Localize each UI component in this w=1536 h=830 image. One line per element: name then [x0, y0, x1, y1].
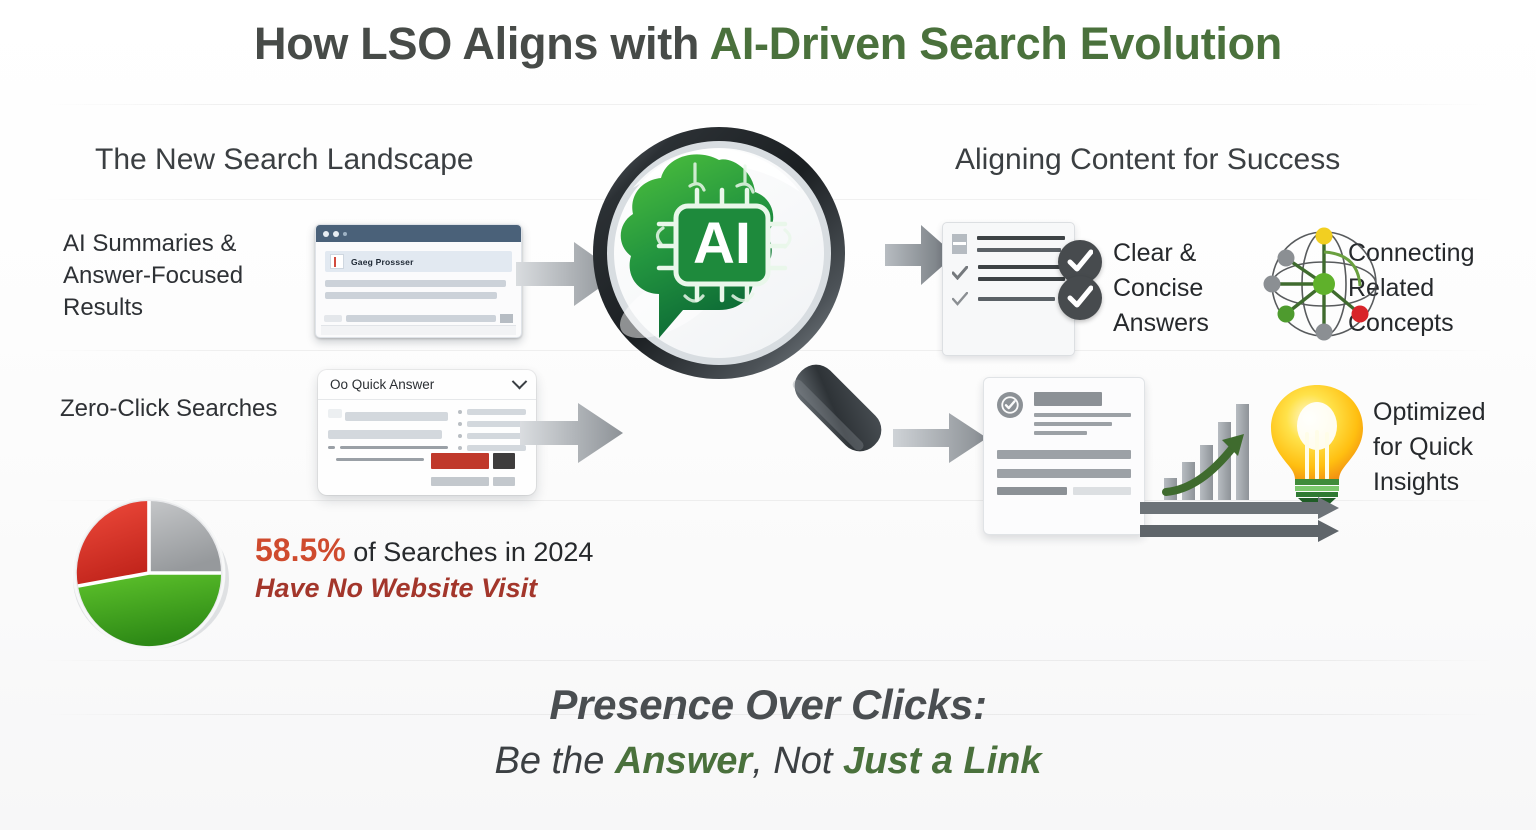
page-title: How LSO Aligns with AI-Driven Search Evo… — [0, 18, 1536, 70]
check-icon — [952, 292, 968, 306]
content-dash — [328, 446, 335, 449]
bullet-icon — [458, 434, 462, 438]
label-ai-summaries-l2: Answer-Focused — [63, 260, 243, 292]
dark-bar — [493, 453, 515, 469]
window-dot-icon — [343, 232, 347, 236]
list-item — [458, 445, 526, 451]
content-line — [325, 292, 497, 299]
stat-line-1-rest: of Searches in 2024 — [346, 537, 594, 567]
label-clear-concise-answers: Clear & Concise Answers — [1113, 236, 1209, 341]
network-node-red — [1352, 306, 1369, 323]
pie-slice-green — [78, 573, 221, 646]
document-meta — [1034, 392, 1131, 440]
label-optim-l2: for Quick — [1373, 430, 1486, 465]
network-graph-icon — [1262, 222, 1386, 346]
content-line — [325, 280, 506, 287]
list-item — [458, 421, 526, 427]
divider-top — [40, 104, 1496, 105]
magnifier-handle — [786, 356, 889, 459]
dropdown-selected-value: Oo Quick Answer — [330, 377, 434, 392]
content-line — [1034, 422, 1112, 426]
check-circle-icon — [997, 392, 1023, 418]
network-node-green — [1278, 306, 1295, 323]
footer-line-2-b: , Not — [752, 740, 843, 782]
content-chip — [328, 409, 342, 418]
stat-block: 58.5% of Searches in 2024 Have No Websit… — [255, 532, 593, 607]
label-ai-summaries-l1: AI Summaries & — [63, 228, 243, 260]
page-title-plain: How LSO Aligns with — [254, 18, 710, 69]
red-highlight-bar — [431, 453, 489, 469]
bullet-icon — [458, 446, 462, 450]
footer-line-2-green2: Just a Link — [843, 740, 1042, 782]
content-block — [1034, 392, 1102, 406]
content-line — [336, 458, 424, 461]
grey-bar — [431, 477, 489, 486]
network-node-gray — [1316, 324, 1333, 341]
bar-chart-icon — [1162, 400, 1262, 500]
content-chip — [324, 315, 342, 322]
label-optim-l3: Insights — [1373, 465, 1486, 500]
content-line — [340, 446, 448, 449]
grey-bar — [493, 477, 515, 486]
network-node-gray — [1278, 250, 1295, 267]
label-ai-summaries: AI Summaries & Answer-Focused Results — [63, 228, 243, 324]
window-dot-icon — [323, 231, 329, 237]
pie-chart — [63, 497, 243, 652]
pie-slice-gray — [149, 501, 221, 573]
grey-bars — [431, 477, 515, 486]
footer-line-2-green1: Answer — [615, 740, 752, 782]
content-line — [467, 421, 526, 427]
stat-line-1: 58.5% of Searches in 2024 — [255, 532, 593, 570]
content-line — [978, 265, 1065, 269]
content-line — [467, 409, 526, 415]
content-line — [997, 487, 1067, 495]
stat-line-2: Have No Website Visit — [255, 570, 593, 607]
checklist-lines — [978, 265, 1065, 281]
dropdown-select-bar[interactable]: Oo Quick Answer — [318, 370, 536, 400]
footer-line-1: Presence Over Clicks: — [0, 676, 1536, 734]
lightbulb-icon — [1263, 382, 1371, 510]
content-chip — [500, 314, 513, 323]
content-line — [1073, 487, 1131, 495]
content-line — [345, 412, 448, 421]
footer-tagline: Presence Over Clicks: Be the Answer, Not… — [0, 676, 1536, 788]
list-item — [458, 409, 526, 415]
bullet-icon — [458, 422, 462, 426]
checklist-row — [943, 265, 1074, 281]
label-clear-l2: Concise — [1113, 271, 1209, 306]
checklist-lines — [978, 297, 1065, 301]
label-optim-l1: Optimized — [1373, 395, 1486, 430]
checkbox-square-icon — [952, 234, 967, 254]
arrow-right-icon — [1140, 520, 1340, 542]
content-line — [997, 469, 1131, 478]
label-clear-l3: Answers — [1113, 306, 1209, 341]
search-result-row: Gaeg Prossser — [325, 251, 512, 272]
bullet-icon — [458, 410, 462, 414]
check-badge-icon — [1058, 276, 1102, 320]
browser-content: Gaeg Prossser — [316, 242, 521, 299]
content-line — [978, 297, 1055, 301]
footer-line-2: Be the Answer, Not Just a Link — [0, 734, 1536, 788]
browser-baseplate — [321, 325, 516, 335]
content-line — [328, 430, 442, 439]
page-title-accent: AI-Driven Search Evolution — [710, 18, 1282, 69]
chevron-down-icon[interactable] — [512, 374, 528, 390]
network-node-yellow — [1316, 228, 1333, 245]
dropdown-left-column — [328, 409, 448, 468]
content-line — [1034, 413, 1131, 417]
content-line — [346, 315, 496, 322]
list-item — [458, 433, 526, 439]
document-card — [983, 377, 1145, 535]
footer-line-2-a: Be the — [494, 740, 614, 782]
browser-window-mock: Gaeg Prossser — [315, 224, 522, 338]
checklist-lines — [977, 236, 1065, 252]
label-optimized-quick-insights: Optimized for Quick Insights — [1373, 395, 1486, 500]
content-line — [978, 277, 1065, 281]
document-footer-row — [997, 487, 1131, 495]
highlight-bars — [431, 453, 515, 469]
checklist-row — [943, 234, 1074, 254]
content-line — [977, 236, 1065, 240]
checklist-row — [943, 292, 1074, 306]
window-dot-icon — [333, 231, 339, 237]
checklist-card — [942, 222, 1075, 356]
favicon-icon — [330, 254, 344, 269]
network-node-gray — [1264, 276, 1281, 293]
label-zero-click-searches: Zero-Click Searches — [60, 393, 277, 425]
network-node-center — [1313, 273, 1335, 295]
search-result-title: Gaeg Prossser — [351, 257, 414, 267]
label-clear-l1: Clear & — [1113, 236, 1209, 271]
magnifying-glass-ai: AI — [585, 120, 905, 480]
browser-titlebar — [316, 225, 521, 242]
ai-badge-text: AI — [693, 211, 751, 276]
content-line — [977, 248, 1061, 252]
content-line — [997, 450, 1131, 459]
content-line — [467, 433, 526, 439]
infographic-canvas: How LSO Aligns with AI-Driven Search Evo… — [0, 0, 1536, 830]
divider-above-footer — [40, 660, 1496, 661]
document-header — [997, 392, 1131, 440]
stat-percent: 58.5% — [255, 532, 346, 568]
left-column-heading: The New Search Landscape — [95, 143, 474, 177]
right-column-heading: Aligning Content for Success — [955, 143, 1340, 177]
quick-answer-dropdown-mock[interactable]: Oo Quick Answer — [318, 370, 536, 495]
arrow-right-icon — [893, 410, 989, 466]
check-icon — [952, 266, 968, 280]
content-line — [1034, 431, 1087, 435]
arrow-right-icon — [1140, 497, 1340, 519]
content-line — [467, 445, 526, 451]
browser-footer-row — [324, 314, 513, 323]
label-ai-summaries-l3: Results — [63, 292, 243, 324]
